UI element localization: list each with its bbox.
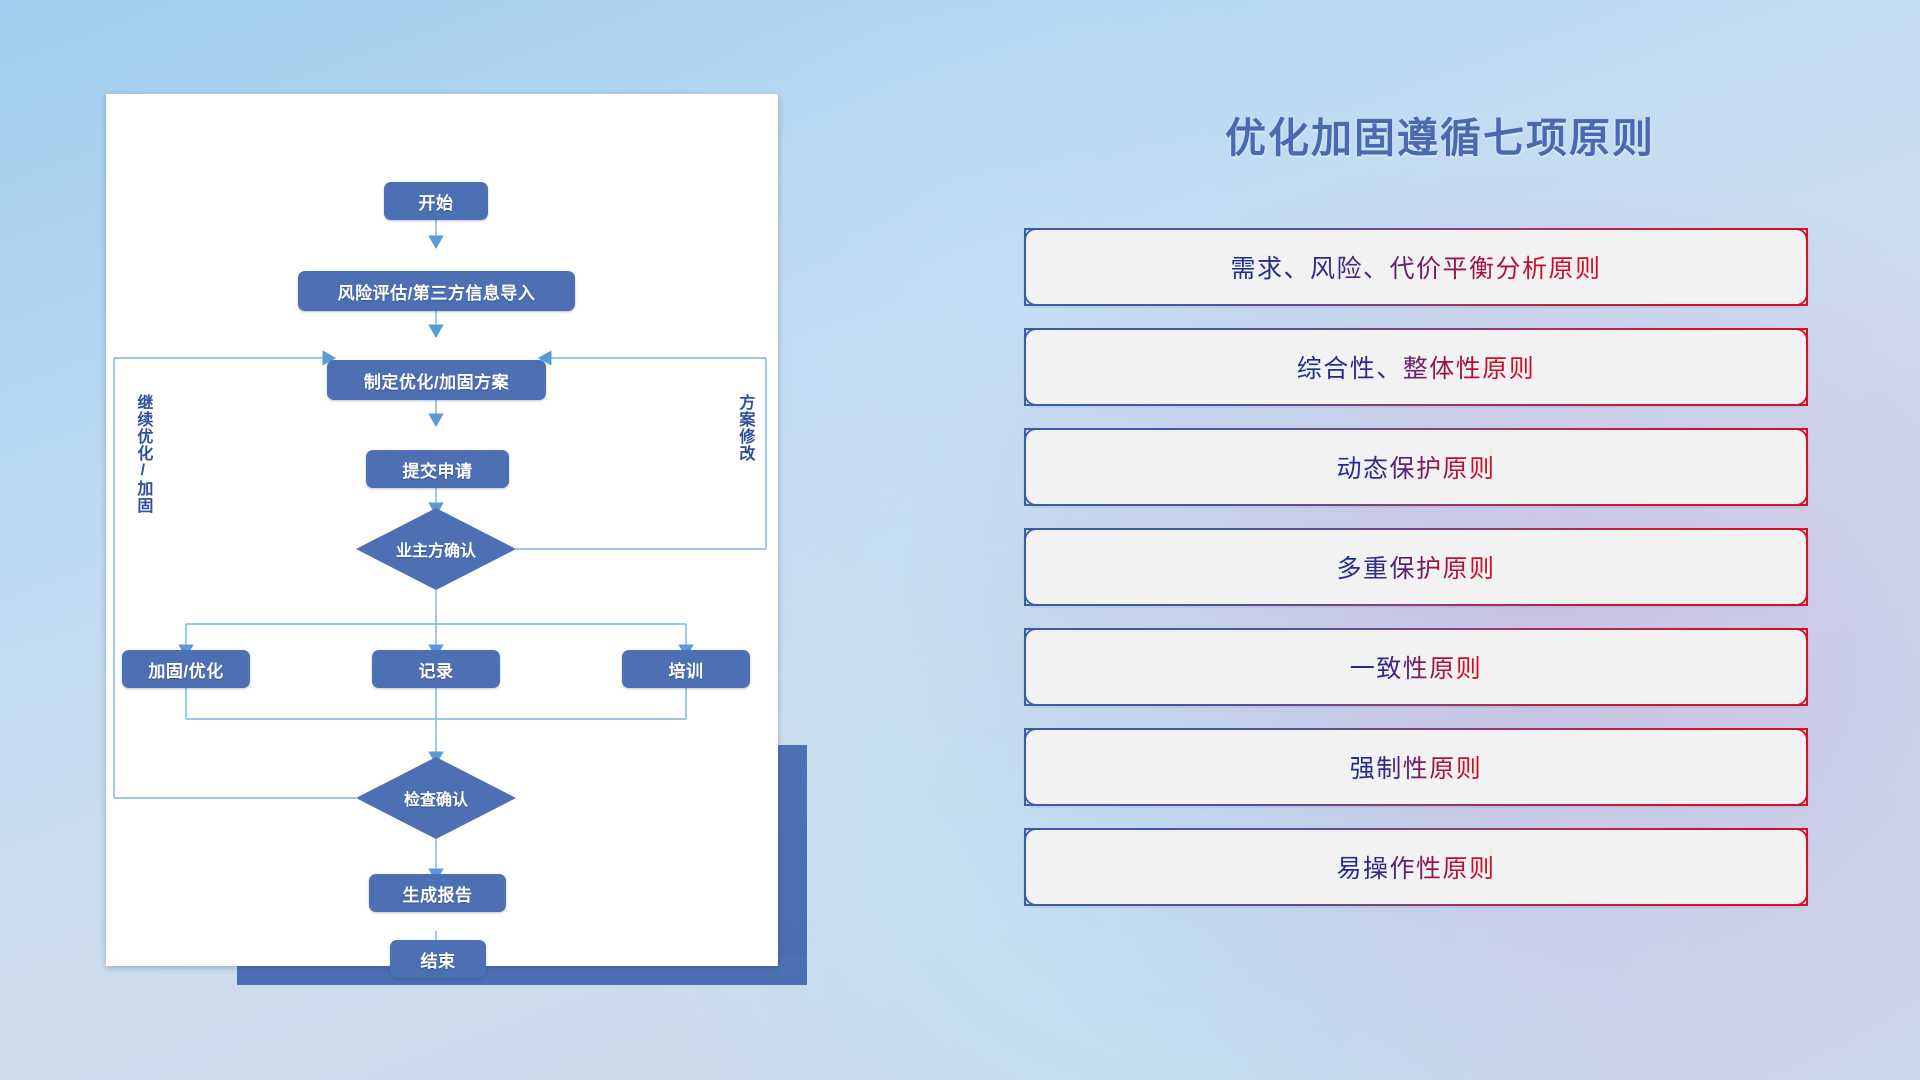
flow-label-plan-revision: 方案修改 xyxy=(736,394,752,462)
flow-label-continue-optimize: 继续优化/加固 xyxy=(134,394,150,514)
flow-node-label: 结束 xyxy=(421,947,456,972)
flow-node-label: 记录 xyxy=(419,657,454,682)
principle-label: 综合性、整体性原则 xyxy=(1297,349,1536,385)
flow-node-generate-report[interactable]: 生成报告 xyxy=(369,874,506,912)
flowchart-card: 继续优化/加固 方案修改 开始 风险评估/第三方信息导入 制定优化/加固方案 提… xyxy=(106,94,778,966)
flow-node-submit-application[interactable]: 提交申请 xyxy=(366,450,509,488)
principle-label: 需求、风险、代价平衡分析原则 xyxy=(1230,249,1601,285)
flow-node-end[interactable]: 结束 xyxy=(390,940,486,978)
flow-node-record[interactable]: 记录 xyxy=(372,650,500,688)
flow-node-label: 加固/优化 xyxy=(148,657,223,682)
principles-panel: 优化加固遵循七项原则 需求、风险、代价平衡分析原则 综合性、整体性原则 动态保护… xyxy=(1020,100,1860,1000)
flow-node-reinforce-optimize[interactable]: 加固/优化 xyxy=(122,650,250,688)
principle-card-5[interactable]: 一致性原则 xyxy=(1024,628,1808,706)
principle-label: 一致性原则 xyxy=(1350,649,1483,685)
principle-label: 强制性原则 xyxy=(1350,749,1483,785)
flow-node-label: 业主方确认 xyxy=(396,537,476,561)
flow-node-label: 开始 xyxy=(419,189,454,214)
flow-node-start[interactable]: 开始 xyxy=(384,182,488,220)
principle-label: 易操作性原则 xyxy=(1336,849,1495,885)
flow-node-label: 风险评估/第三方信息导入 xyxy=(338,279,536,304)
principles-list: 需求、风险、代价平衡分析原则 综合性、整体性原则 动态保护原则 多重保护原则 一… xyxy=(1024,228,1808,928)
principle-card-6[interactable]: 强制性原则 xyxy=(1024,728,1808,806)
flow-node-label: 检查确认 xyxy=(404,786,468,810)
principle-card-2[interactable]: 综合性、整体性原则 xyxy=(1024,328,1808,406)
flow-node-label: 制定优化/加固方案 xyxy=(364,368,509,393)
flow-node-label: 培训 xyxy=(669,657,704,682)
principle-card-1[interactable]: 需求、风险、代价平衡分析原则 xyxy=(1024,228,1808,306)
flow-node-training[interactable]: 培训 xyxy=(622,650,750,688)
flow-node-risk-assessment[interactable]: 风险评估/第三方信息导入 xyxy=(298,271,575,311)
panel-title: 优化加固遵循七项原则 xyxy=(1020,104,1860,164)
principle-card-4[interactable]: 多重保护原则 xyxy=(1024,528,1808,606)
principle-label: 多重保护原则 xyxy=(1336,549,1495,585)
flow-node-label: 生成报告 xyxy=(403,881,473,906)
flow-node-inspection-confirm[interactable]: 检查确认 xyxy=(356,757,516,839)
principle-card-7[interactable]: 易操作性原则 xyxy=(1024,828,1808,906)
flow-node-make-plan[interactable]: 制定优化/加固方案 xyxy=(327,360,546,400)
flow-node-owner-confirm[interactable]: 业主方确认 xyxy=(356,508,516,590)
slide-canvas: 继续优化/加固 方案修改 开始 风险评估/第三方信息导入 制定优化/加固方案 提… xyxy=(0,0,1920,1080)
flow-node-label: 提交申请 xyxy=(403,457,473,482)
flowchart: 继续优化/加固 方案修改 开始 风险评估/第三方信息导入 制定优化/加固方案 提… xyxy=(106,94,778,966)
principle-label: 动态保护原则 xyxy=(1336,449,1495,485)
principle-card-3[interactable]: 动态保护原则 xyxy=(1024,428,1808,506)
